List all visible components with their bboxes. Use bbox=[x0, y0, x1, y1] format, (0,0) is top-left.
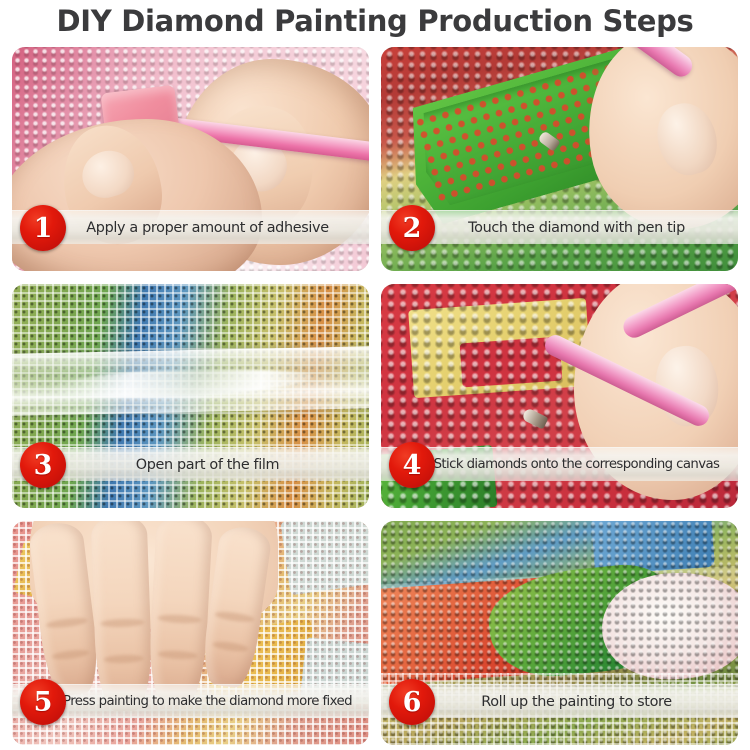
step-2-number: 2 bbox=[403, 215, 422, 242]
knuckle-crease bbox=[45, 616, 88, 629]
step-5-number-badge: 5 bbox=[20, 679, 66, 725]
step-panel-2: Touch the diamond with pen tip 2 bbox=[381, 47, 738, 271]
page-title: DIY Diamond Painting Production Steps bbox=[0, 0, 750, 44]
step-6-number-badge: 6 bbox=[389, 679, 435, 725]
step-2-number-badge: 2 bbox=[389, 205, 435, 251]
steps-grid: Apply a proper amount of adhesive 1 Touc… bbox=[12, 47, 738, 745]
step-4-number-badge: 4 bbox=[389, 442, 435, 488]
step-6-number: 6 bbox=[403, 689, 422, 716]
knuckle-crease bbox=[157, 650, 197, 660]
knuckle-crease bbox=[103, 654, 143, 663]
step-panel-1: Apply a proper amount of adhesive 1 bbox=[12, 47, 369, 271]
step-panel-3: Open part of the film 3 bbox=[12, 284, 369, 508]
step-panel-6: Roll up the painting to store 6 bbox=[381, 521, 738, 745]
step-1-number-badge: 1 bbox=[20, 205, 66, 251]
step-3-number: 3 bbox=[34, 452, 53, 479]
knuckle-crease bbox=[214, 610, 255, 623]
knuckle-crease bbox=[100, 618, 144, 628]
knuckle-crease bbox=[157, 614, 201, 624]
step-3-number-badge: 3 bbox=[20, 442, 66, 488]
step-4-number: 4 bbox=[403, 452, 422, 479]
knuckle-crease bbox=[51, 648, 90, 661]
step-panel-5: Press painting to make the diamond more … bbox=[12, 521, 369, 745]
step-1-number: 1 bbox=[34, 215, 53, 242]
step-5-number: 5 bbox=[34, 689, 53, 716]
knuckle-crease bbox=[212, 640, 249, 653]
step-panel-4: Stick diamonds onto the corresponding ca… bbox=[381, 284, 738, 508]
infographic-page: DIY Diamond Painting Production Steps Ap… bbox=[0, 0, 750, 750]
